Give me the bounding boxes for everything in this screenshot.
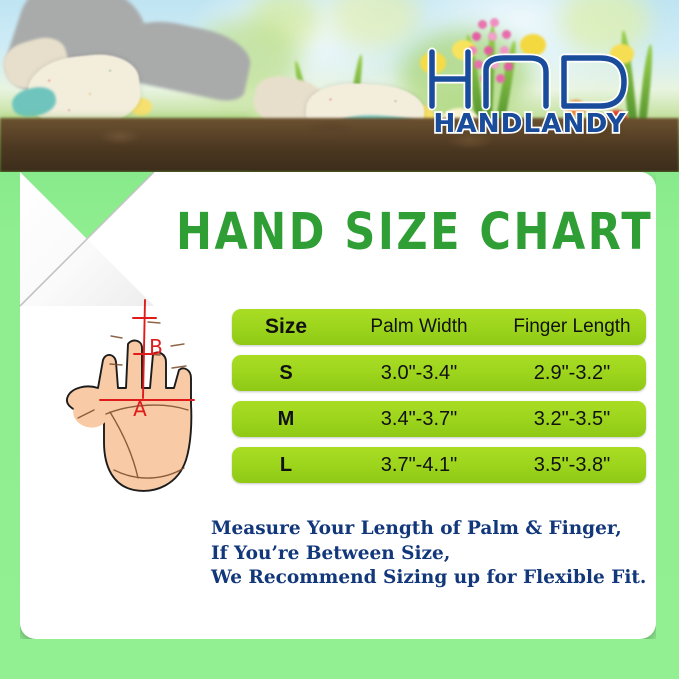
table-header-cell-finger-length: Finger Length xyxy=(498,316,646,338)
svg-text:HANDLANDY: HANDLANDY xyxy=(434,109,627,136)
table-cell-size: S xyxy=(232,362,340,385)
table-cell-finger-length: 2.9"-3.2" xyxy=(498,362,646,385)
size-value: M xyxy=(278,408,295,430)
table-header-row: Size Palm Width Finger Length xyxy=(232,309,646,345)
table-cell-size: M xyxy=(232,408,340,431)
table-header-cell-palm-width: Palm Width xyxy=(340,316,498,338)
hand-silhouette xyxy=(67,341,191,491)
table-cell-palm-width: 3.4"-3.7" xyxy=(340,408,498,431)
finger-length-value: 2.9"-3.2" xyxy=(534,362,610,384)
sizing-note-line-3: We Recommend Sizing up for Flexible Fit. xyxy=(211,566,646,591)
table-cell-size: L xyxy=(232,454,340,477)
table-row: S 3.0"-3.4" 2.9"-3.2" xyxy=(232,355,646,391)
table-row: M 3.4"-3.7" 3.2"-3.5" xyxy=(232,401,646,437)
size-value: L xyxy=(280,454,292,476)
table-cell-finger-length: 3.5"-3.8" xyxy=(498,454,646,477)
table-header-cell-size: Size xyxy=(232,315,340,339)
table-row: L 3.7"-4.1" 3.5"-3.8" xyxy=(232,447,646,483)
page-title: HAND SIZE CHART xyxy=(176,203,646,262)
table-header-label: Finger Length xyxy=(513,316,630,337)
finger-length-label: B xyxy=(149,335,163,359)
sizing-note: Measure Your Length of Palm & Finger, If… xyxy=(211,517,646,591)
finger-length-line xyxy=(143,300,145,398)
palm-width-value: 3.0"-3.4" xyxy=(381,362,457,384)
hand-diagram: A B xyxy=(38,292,230,514)
hand-size-chart-page: HANDLANDY HANDLANDY HAND SIZE CHART xyxy=(0,0,679,679)
palm-width-value: 3.4"-3.7" xyxy=(381,408,457,430)
table-header-label: Size xyxy=(265,315,307,338)
table-cell-palm-width: 3.7"-4.1" xyxy=(340,454,498,477)
size-table: Size Palm Width Finger Length S 3.0"-3.4… xyxy=(232,309,646,493)
table-header-label: Palm Width xyxy=(370,316,467,337)
size-value: S xyxy=(279,362,292,384)
palm-width-value: 3.7"-4.1" xyxy=(381,454,457,476)
finger-length-value: 3.5"-3.8" xyxy=(534,454,610,476)
handlandy-logo: HANDLANDY HANDLANDY xyxy=(424,44,636,136)
table-cell-palm-width: 3.0"-3.4" xyxy=(340,362,498,385)
finger-length-value: 3.2"-3.5" xyxy=(534,408,610,430)
sizing-note-line-2: If You’re Between Size, xyxy=(211,542,646,567)
table-cell-finger-length: 3.2"-3.5" xyxy=(498,408,646,431)
palm-width-label: A xyxy=(133,397,147,421)
sizing-note-line-1: Measure Your Length of Palm & Finger, xyxy=(211,517,646,542)
